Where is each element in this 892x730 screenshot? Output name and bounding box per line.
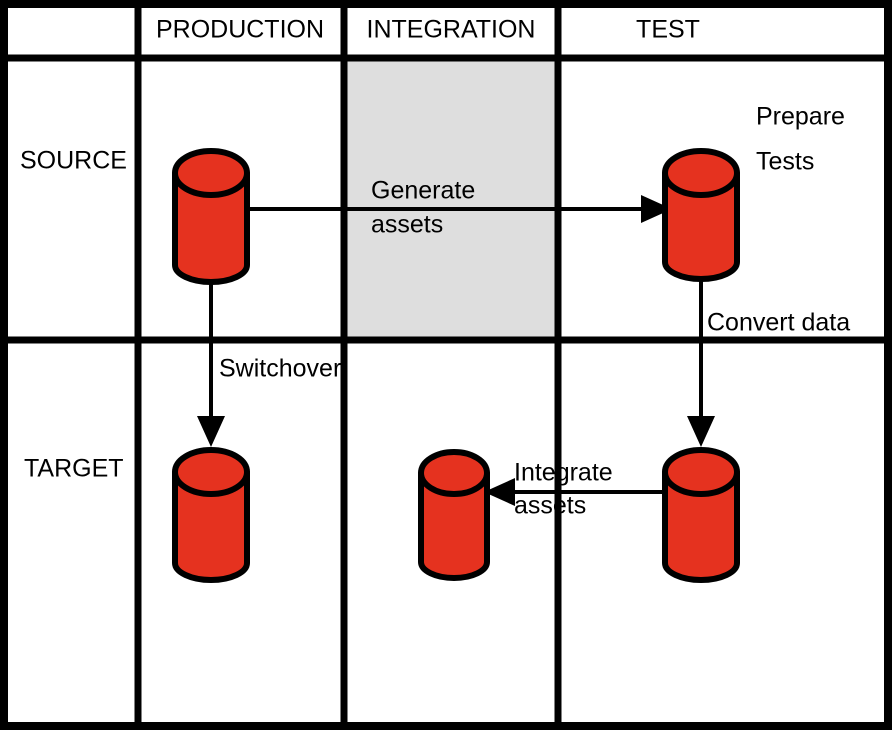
column-header-production: PRODUCTION [156,16,324,44]
database-source-production[interactable] [175,151,247,282]
database-cylinder-top [421,452,487,494]
row-header-source: SOURCE [20,147,127,175]
database-cylinder-top [175,450,247,494]
flow-label-generate-assets-line1: Generate [371,177,475,205]
annotation-prepare-tests-line1: Prepare [756,103,845,131]
flow-label-generate-assets-line2: assets [371,211,443,239]
database-cylinder-top [175,151,247,195]
flow-label-convert-data: Convert data [707,309,850,337]
column-header-integration: INTEGRATION [367,16,536,44]
database-source-test[interactable] [665,151,737,279]
database-target-integration[interactable] [421,452,487,578]
flow-label-switchover: Switchover [219,355,341,383]
flow-label-integrate-assets-line2: assets [514,492,586,520]
column-header-test: TEST [636,16,700,44]
database-cylinder-top [665,450,737,494]
annotation-prepare-tests-line2: Tests [756,148,814,176]
flow-arrowhead-convert-data [687,416,715,447]
diagram-canvas: PRODUCTION INTEGRATION TEST SOURCE TARGE… [0,0,892,730]
database-target-test[interactable] [665,450,737,580]
database-cylinder-top [665,151,737,195]
row-header-target: TARGET [24,455,124,483]
flow-arrowhead-switchover [197,416,225,447]
environments-flow-diagram: PRODUCTION INTEGRATION TEST SOURCE TARGE… [0,0,892,730]
database-target-production[interactable] [175,450,247,580]
flow-label-integrate-assets-line1: Integrate [514,459,613,487]
